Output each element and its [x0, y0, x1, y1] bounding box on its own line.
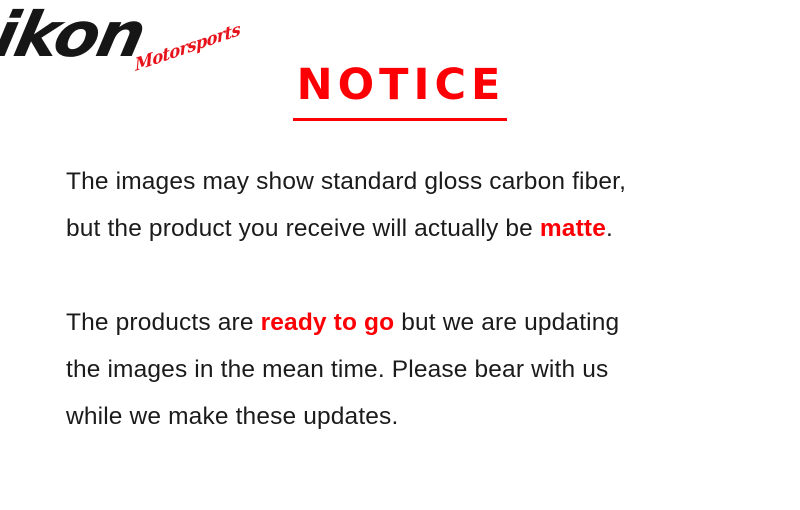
text-run: the images in the mean time. Please bear…: [66, 356, 608, 383]
text-line: The products are ready to go but we are …: [66, 299, 766, 346]
text-run: .: [606, 215, 613, 242]
text-line: but the product you receive will actuall…: [66, 205, 766, 252]
notice-body: The images may show standard gloss carbo…: [66, 158, 766, 440]
page-title: NOTICE: [293, 64, 508, 121]
text-line: while we make these updates.: [66, 393, 766, 440]
paragraph: The products are ready to go but we are …: [66, 299, 766, 440]
brand-wordmark-ikon: ikon: [0, 4, 149, 66]
notice-banner: { "brand": { "name": "ikon", "tagline": …: [0, 0, 800, 510]
text-run: but we are updating: [394, 309, 619, 336]
text-run: while we make these updates.: [66, 403, 398, 430]
text-run: The images may show standard gloss carbo…: [66, 168, 626, 195]
text-line: the images in the mean time. Please bear…: [66, 346, 766, 393]
text-line: The images may show standard gloss carbo…: [66, 158, 766, 205]
highlighted-term: ready to go: [261, 309, 395, 336]
highlighted-term: matte: [540, 215, 606, 242]
notice-heading-container: NOTICE: [0, 64, 800, 121]
text-run: but the product you receive will actuall…: [66, 215, 540, 242]
text-run: The products are: [66, 309, 261, 336]
paragraph: The images may show standard gloss carbo…: [66, 158, 766, 252]
